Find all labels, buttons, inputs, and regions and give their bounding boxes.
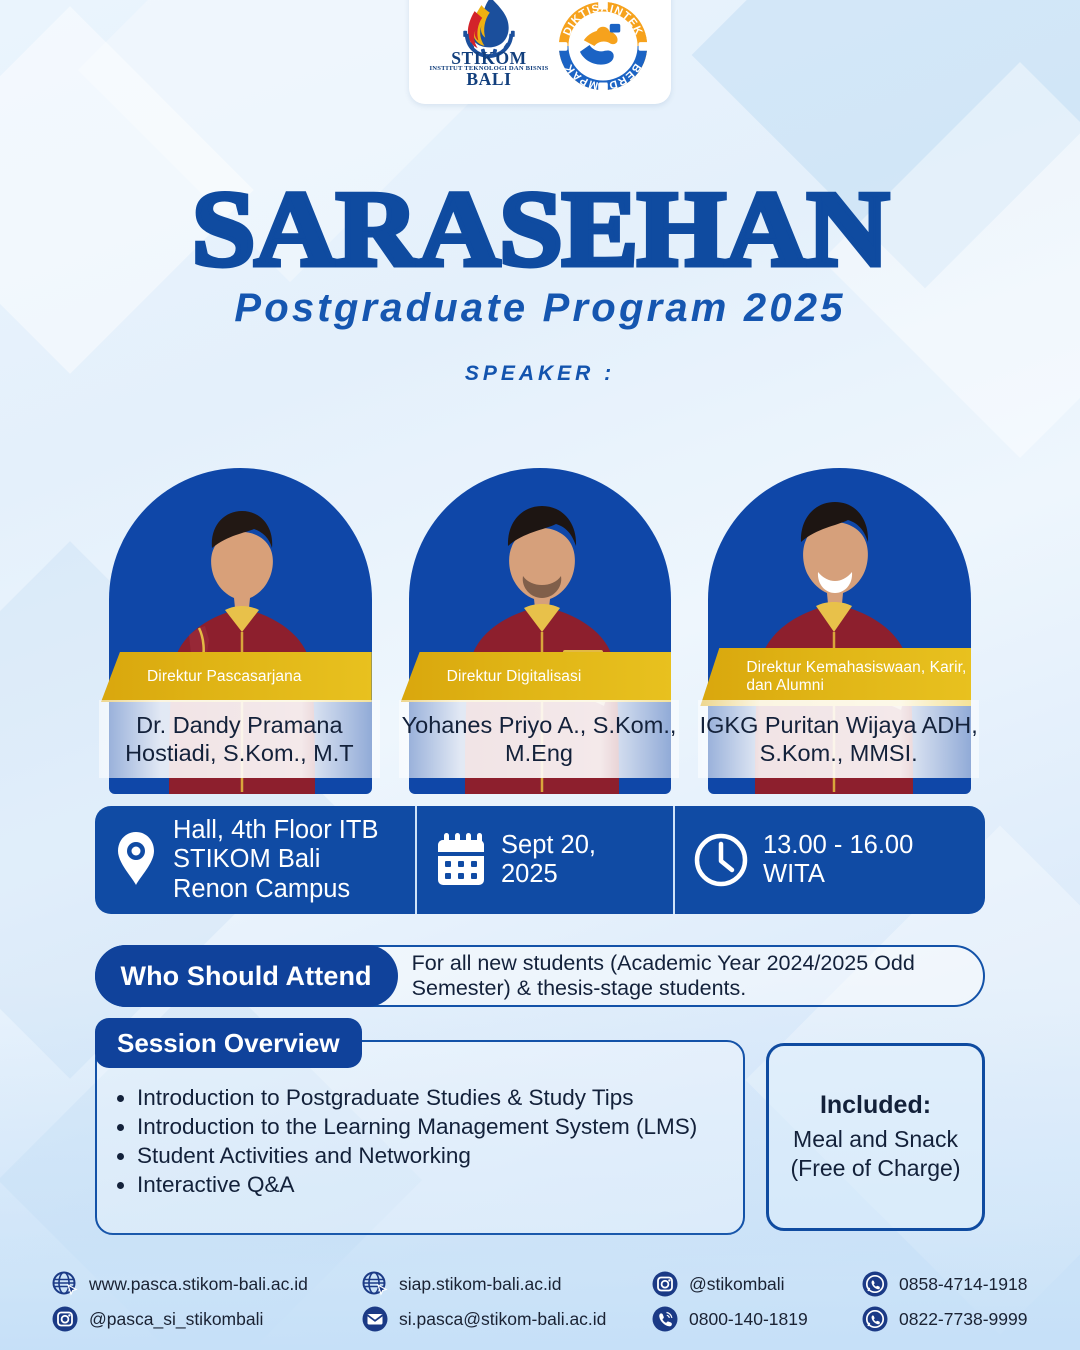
- speaker-role: Direktur Kemahasiswaan, Karir, dan Alumn…: [746, 659, 971, 695]
- included-heading: Included:: [820, 1091, 931, 1120]
- speaker-name: Dr. Dandy Pramana Hostiadi, S.Kom., M.T: [99, 700, 380, 778]
- speaker-card: Direktur Kemahasiswaan, Karir, dan Alumn…: [694, 404, 985, 794]
- footer-website[interactable]: www.pasca.stikom-bali.ac.id: [52, 1271, 362, 1297]
- footer-email[interactable]: si.pasca@stikom-bali.ac.id: [362, 1306, 652, 1332]
- who-should-attend-text: For all new students (Academic Year 2024…: [398, 951, 983, 1001]
- speaker-name: IGKG Puritan Wijaya ADH, S.Kom., MMSI.: [698, 700, 979, 778]
- calendar-icon: [435, 832, 487, 888]
- poster-root: INSTITUT TEKNOLOGI DAN BISNIS STIKOM BAL…: [0, 0, 1080, 1350]
- clock-icon: [693, 832, 749, 888]
- footer-text: 0800-140-1819: [689, 1309, 808, 1330]
- info-date-text: Sept 20, 2025: [501, 831, 655, 889]
- footer-text: 0822-7738-9999: [899, 1309, 1027, 1330]
- who-should-attend-label: Who Should Attend: [95, 945, 398, 1007]
- list-item: Interactive Q&A: [137, 1171, 725, 1198]
- info-location: Hall, 4th Floor ITB STIKOM Bali Renon Ca…: [95, 806, 415, 914]
- included-box: Included: Meal and Snack (Free of Charge…: [766, 1043, 985, 1231]
- footer-text: @pasca_si_stikombali: [89, 1309, 263, 1330]
- who-should-attend-section: Who Should Attend For all new students (…: [95, 945, 985, 1007]
- whatsapp-icon: [862, 1306, 888, 1332]
- map-pin-icon: [113, 830, 159, 890]
- globe-cursor-icon: [52, 1271, 78, 1297]
- footer-text: si.pasca@stikom-bali.ac.id: [399, 1309, 606, 1330]
- stikom-bali-logo: INSTITUT TEKNOLOGI DAN BISNIS STIKOM BAL…: [429, 0, 549, 94]
- footer-text: 0858-4714-1918: [899, 1274, 1027, 1295]
- included-line1: Meal and Snack: [793, 1125, 958, 1154]
- session-overview-list: Introduction to Postgraduate Studies & S…: [137, 1084, 725, 1200]
- instagram-icon: [652, 1271, 678, 1297]
- info-location-text: Hall, 4th Floor ITB STIKOM Bali Renon Ca…: [173, 816, 397, 903]
- info-time-text: 13.00 - 16.00 WITA: [763, 831, 967, 889]
- info-date: Sept 20, 2025: [415, 806, 673, 914]
- speaker-role: Direktur Digitalisasi: [447, 668, 582, 686]
- poster-title: SARASEHAN: [0, 178, 1080, 282]
- info-time: 13.00 - 16.00 WITA: [673, 806, 985, 914]
- footer-text: www.pasca.stikom-bali.ac.id: [89, 1274, 308, 1295]
- footer-column: 0858-4714-1918 0822-7738-9999: [862, 1271, 1027, 1332]
- footer-column: siap.stikom-bali.ac.id si.pasca@stikom-b…: [362, 1271, 652, 1332]
- event-info-bar: Hall, 4th Floor ITB STIKOM Bali Renon Ca…: [95, 806, 985, 914]
- footer-column: www.pasca.stikom-bali.ac.id @pasca_si_st…: [52, 1271, 362, 1332]
- footer-text: siap.stikom-bali.ac.id: [399, 1274, 561, 1295]
- diktisaintek-berdampak-logo: DIKTISAINTEK BERDAMPAK: [555, 0, 651, 94]
- instagram-icon: [52, 1306, 78, 1332]
- speaker-section-label: SPEAKER :: [0, 362, 1080, 386]
- globe-cursor-icon: [362, 1271, 388, 1297]
- speaker-role-ribbon: Direktur Pascasarjana: [101, 652, 372, 702]
- footer-phone[interactable]: 0800-140-1819: [652, 1306, 862, 1332]
- footer-whatsapp-1[interactable]: 0858-4714-1918: [862, 1271, 1027, 1297]
- email-icon: [362, 1306, 388, 1332]
- poster-subtitle: Postgraduate Program 2025: [0, 286, 1080, 331]
- header-logo-bar: INSTITUT TEKNOLOGI DAN BISNIS STIKOM BAL…: [409, 0, 671, 104]
- speaker-role: Direktur Pascasarjana: [147, 668, 302, 686]
- included-line2: (Free of Charge): [790, 1154, 960, 1183]
- stikom-logo-line2: STIKOM BALI: [429, 48, 549, 90]
- session-overview-label: Session Overview: [95, 1018, 362, 1068]
- speaker-card: Direktur Digitalisasi Yohanes Priyo A., …: [395, 404, 686, 794]
- speaker-name: Yohanes Priyo A., S.Kom., M.Eng: [399, 700, 680, 778]
- list-item: Student Activities and Networking: [137, 1142, 725, 1169]
- speaker-card: Direktur Pascasarjana Dr. Dandy Pramana …: [95, 404, 386, 794]
- footer-column: @stikombali 0800-140-1819: [652, 1271, 862, 1332]
- footer: www.pasca.stikom-bali.ac.id @pasca_si_st…: [0, 1230, 1080, 1350]
- footer-website-siap[interactable]: siap.stikom-bali.ac.id: [362, 1271, 652, 1297]
- footer-text: @stikombali: [689, 1274, 785, 1295]
- list-item: Introduction to Postgraduate Studies & S…: [137, 1084, 725, 1111]
- session-overview-section: Session Overview Introduction to Postgra…: [95, 1040, 745, 1235]
- speaker-role-ribbon: Direktur Digitalisasi: [401, 652, 672, 702]
- speaker-role-ribbon: Direktur Kemahasiswaan, Karir, dan Alumn…: [700, 648, 971, 706]
- list-item: Introduction to the Learning Management …: [137, 1113, 725, 1140]
- footer-instagram[interactable]: @pasca_si_stikombali: [52, 1306, 362, 1332]
- speaker-cards: Direktur Pascasarjana Dr. Dandy Pramana …: [95, 404, 985, 794]
- footer-whatsapp-2[interactable]: 0822-7738-9999: [862, 1306, 1027, 1332]
- footer-columns: www.pasca.stikom-bali.ac.id @pasca_si_st…: [52, 1271, 1050, 1332]
- phone-icon: [652, 1306, 678, 1332]
- footer-instagram-stikombali[interactable]: @stikombali: [652, 1271, 862, 1297]
- whatsapp-icon: [862, 1271, 888, 1297]
